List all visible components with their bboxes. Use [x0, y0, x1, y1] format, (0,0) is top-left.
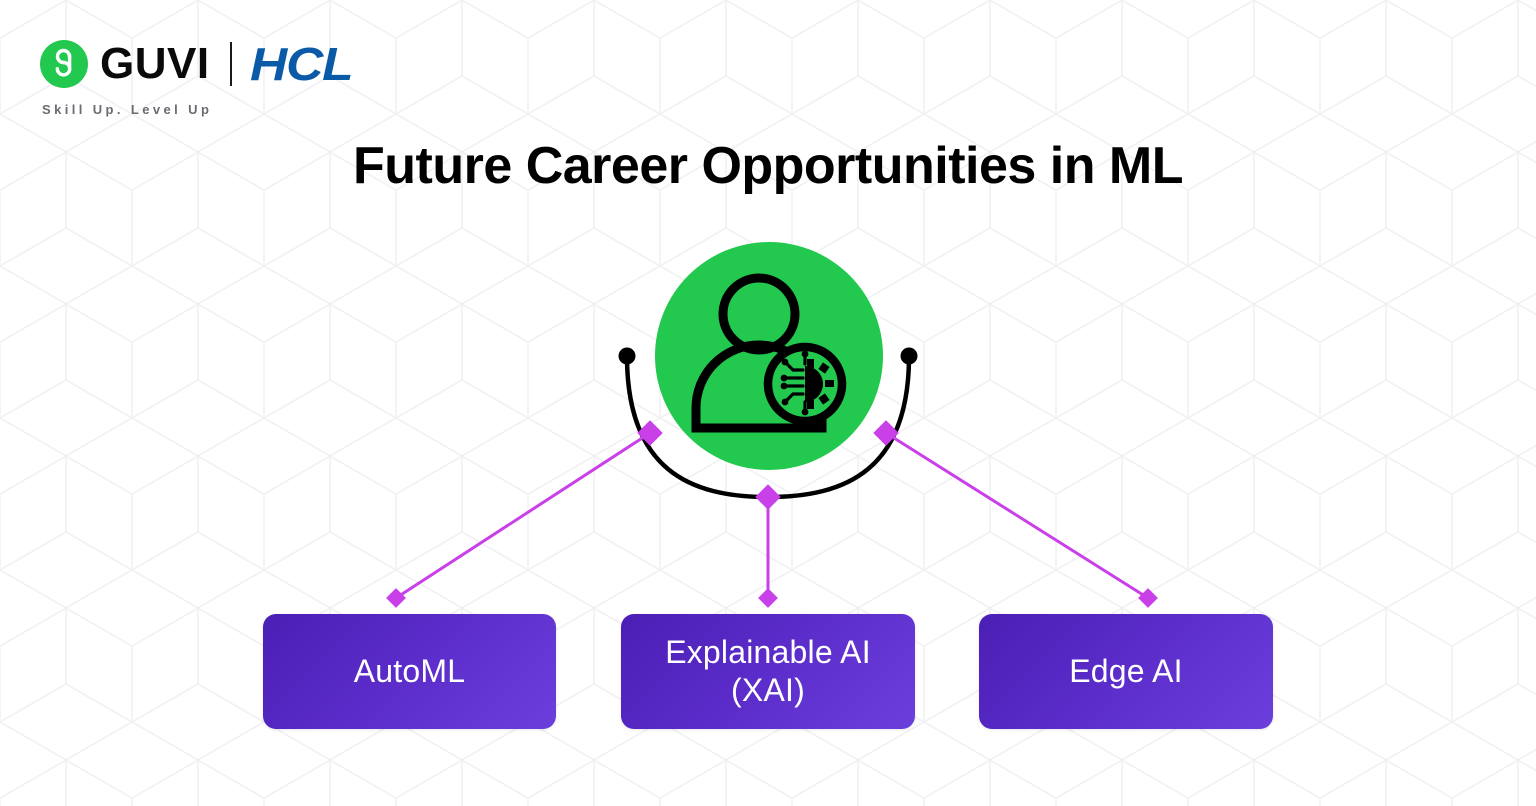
leaf-node-diamond-edge-ai	[1138, 588, 1158, 608]
branch-box-xai[interactable]: Explainable AI (XAI)	[621, 614, 915, 729]
hub-icon-circle	[655, 242, 883, 470]
brand-tagline: Skill Up. Level Up	[42, 102, 341, 117]
brand-header: GUVI HCL Skill Up. Level Up	[40, 38, 341, 117]
guvi-logo-icon	[40, 40, 88, 88]
connector-line-automl	[396, 433, 650, 598]
leaf-node-diamond-automl	[386, 588, 406, 608]
branch-label-edge-ai: Edge AI	[1069, 653, 1183, 691]
branch-box-edge-ai[interactable]: Edge AI	[979, 614, 1273, 729]
page-title: Future Career Opportunities in ML	[0, 136, 1536, 196]
slide-canvas: GUVI HCL Skill Up. Level Up Future Caree…	[0, 0, 1536, 806]
branch-label-xai: Explainable AI (XAI)	[665, 634, 871, 710]
branch-box-automl[interactable]: AutoML	[263, 614, 556, 729]
arc-endpoint-dot-left	[619, 348, 636, 365]
branch-label-automl: AutoML	[354, 653, 465, 691]
person-with-ai-gear-icon	[655, 242, 883, 470]
connector-line-edge-ai	[886, 433, 1148, 598]
guvi-wordmark: GUVI	[100, 42, 210, 86]
leaf-node-diamond-xai	[758, 588, 778, 608]
arc-node-diamond-center	[755, 484, 780, 509]
hcl-wordmark: HCL	[250, 41, 353, 87]
brand-divider	[230, 42, 232, 86]
brand-row: GUVI HCL	[40, 38, 341, 90]
arc-endpoint-dot-right	[901, 348, 918, 365]
